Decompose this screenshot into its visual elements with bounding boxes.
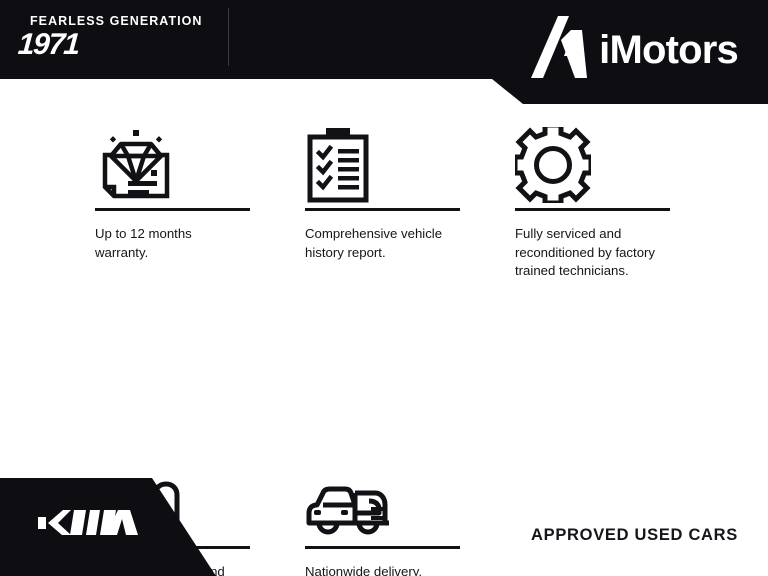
kia-logo (38, 505, 138, 542)
features-row-2: Professional valet and preparation befor… (0, 302, 768, 452)
promo-banner: FEARLESS GENERATION 1971 iMotors (0, 0, 768, 576)
feature-item-history-report: Comprehensive vehicle history report. (295, 122, 495, 262)
feature-divider (305, 208, 460, 211)
year-logo: 1971 (17, 28, 80, 62)
brand-name: iMotors (599, 30, 738, 70)
feature-divider (95, 208, 250, 211)
clipboard-checklist-icon (295, 122, 495, 208)
approved-used-cars-strapline: APPROVED USED CARS (531, 526, 738, 545)
brand-lockup[interactable]: iMotors (531, 16, 738, 83)
feature-item-serviced: Fully serviced and reconditioned by fact… (505, 122, 705, 281)
feature-item-delivery: Nationwide delivery. (295, 478, 495, 576)
car-transporter-icon (295, 478, 495, 546)
header-tagline: FEARLESS GENERATION (30, 14, 203, 28)
feature-label: Comprehensive vehicle history report. (305, 225, 455, 262)
feature-label: Fully serviced and reconditioned by fact… (515, 225, 665, 281)
gear-icon (505, 122, 705, 208)
feature-divider (305, 546, 460, 549)
features-row-1: Up to 12 months warranty. (0, 122, 768, 302)
header-divider (228, 8, 229, 66)
feature-label: Nationwide delivery. (305, 563, 455, 576)
feature-item-warranty: Up to 12 months warranty. (85, 122, 285, 262)
feature-divider (515, 208, 670, 211)
features-grid: Up to 12 months warranty. (0, 122, 768, 452)
feature-label: Up to 12 months warranty. (95, 225, 245, 262)
imotors-chevron-mark-icon (531, 16, 587, 83)
diamond-certificate-icon (85, 122, 285, 208)
